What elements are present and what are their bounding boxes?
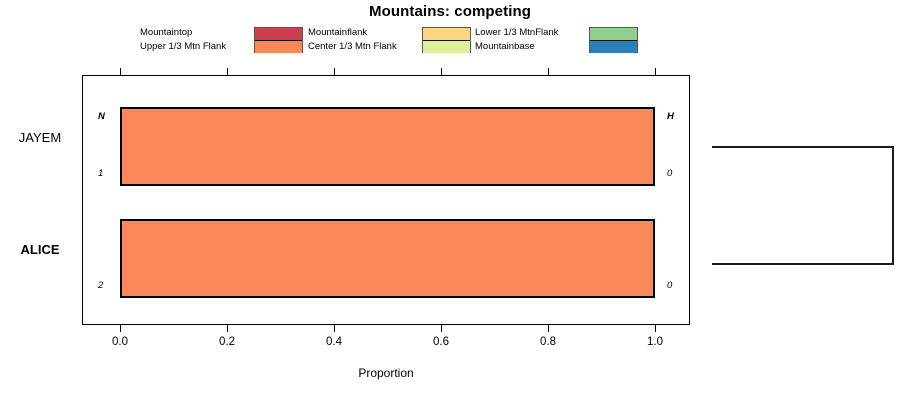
x-axis-tick-label: 0.4 <box>314 336 354 348</box>
bar-segment[interactable] <box>120 219 655 298</box>
bar-corner-label: 2 <box>98 280 103 291</box>
bar-corner-label: 0 <box>667 280 672 291</box>
y-axis-category-label: ALICE <box>0 242 80 257</box>
legend-item-label: Mountainbase <box>475 40 583 54</box>
legend-swatch-group <box>254 27 303 53</box>
x-axis-tick <box>441 325 442 332</box>
legend-swatch-mountaintop <box>255 28 302 41</box>
bar-corner-label: H <box>667 111 674 122</box>
x-axis-tick <box>334 325 335 332</box>
legend-column: Lower 1/3 MtnFlank Mountainbase <box>475 26 643 54</box>
x-axis-tick <box>548 325 549 332</box>
page-title: Mountains: competing <box>0 3 900 20</box>
x-axis-label: Proportion <box>82 366 690 380</box>
legend-item-label: Mountaintop <box>140 26 248 40</box>
chart-legend: Mountaintop Upper 1/3 Mtn Flank Mountain… <box>140 26 660 54</box>
x-axis-tick <box>655 325 656 332</box>
legend-item-label: Center 1/3 Mtn Flank <box>308 40 416 54</box>
legend-swatch-lower-third-mtn-flank <box>590 28 637 41</box>
x-axis-tick-label: 1.0 <box>635 336 675 348</box>
legend-label-group: Lower 1/3 MtnFlank Mountainbase <box>475 26 583 54</box>
legend-swatch-group <box>422 27 471 53</box>
x-axis-tick <box>548 68 549 75</box>
bar-segment[interactable] <box>120 107 655 186</box>
x-axis-tick <box>120 325 121 332</box>
bar-corner-label: N <box>98 111 105 122</box>
legend-item-label: Upper 1/3 Mtn Flank <box>140 40 248 54</box>
x-axis-tick <box>120 68 121 75</box>
legend-swatch-mountainflank <box>423 28 470 41</box>
x-axis-tick-label: 0.6 <box>421 336 461 348</box>
x-axis-tick <box>227 325 228 332</box>
x-axis-tick-label: 0.2 <box>207 336 247 348</box>
legend-item-label: Lower 1/3 MtnFlank <box>475 26 583 40</box>
legend-swatch-group <box>589 27 638 53</box>
x-axis-tick <box>441 68 442 75</box>
legend-swatch-upper-third-mtn-flank <box>255 41 302 53</box>
legend-label-group: Mountainflank Center 1/3 Mtn Flank <box>308 26 416 54</box>
y-axis-category-label: JAYEM <box>0 130 80 145</box>
legend-swatch-mountainbase <box>590 41 637 53</box>
x-axis-tick <box>334 68 335 75</box>
bar-corner-label: 0 <box>667 168 672 179</box>
legend-column: Mountaintop Upper 1/3 Mtn Flank <box>140 26 308 54</box>
side-annotation-box <box>712 146 894 265</box>
x-axis-tick-label: 0.8 <box>528 336 568 348</box>
bar-corner-label: 1 <box>98 168 103 179</box>
legend-label-group: Mountaintop Upper 1/3 Mtn Flank <box>140 26 248 54</box>
x-axis-tick-label: 0.0 <box>100 336 140 348</box>
legend-column: Mountainflank Center 1/3 Mtn Flank <box>308 26 475 54</box>
legend-swatch-center-third-mtn-flank <box>423 41 470 53</box>
x-axis-tick <box>227 68 228 75</box>
x-axis-tick <box>655 68 656 75</box>
legend-item-label: Mountainflank <box>308 26 416 40</box>
